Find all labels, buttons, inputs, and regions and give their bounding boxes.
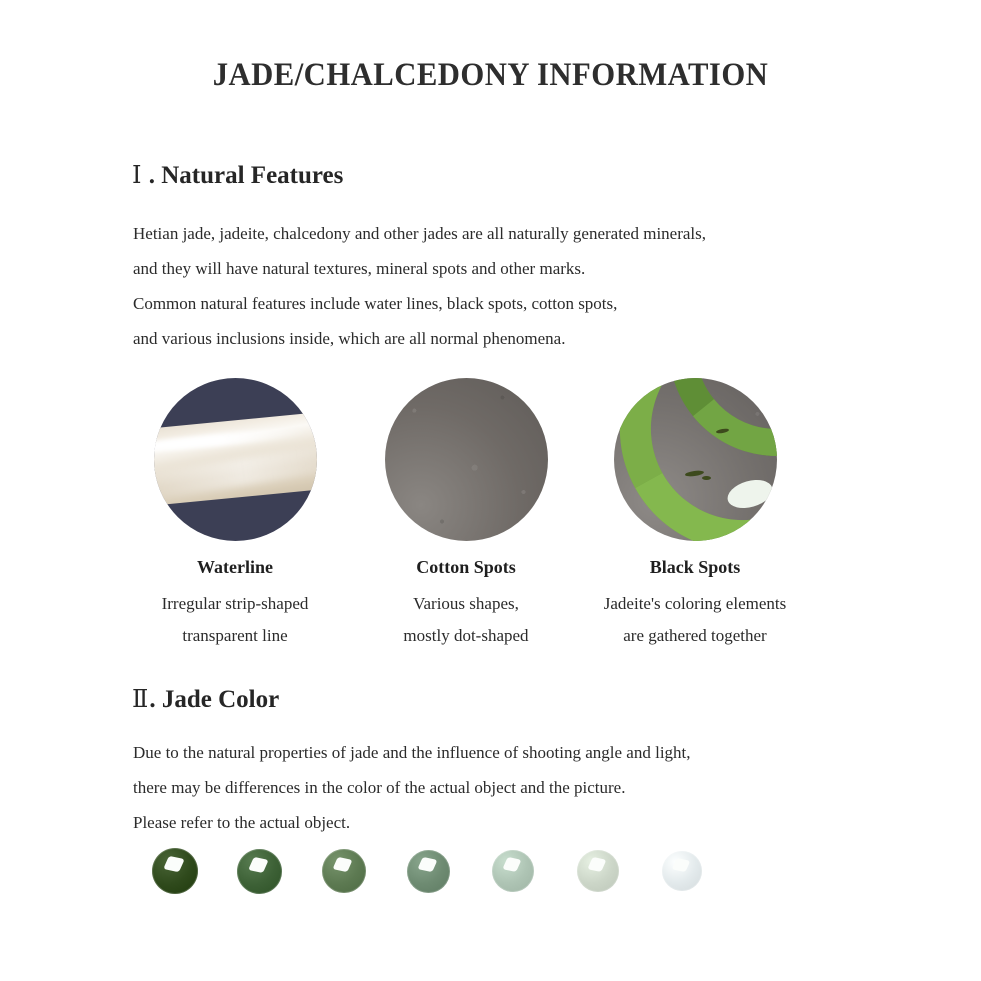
section-label-jade-color: Jade Color [162,686,279,713]
feature-description-line: are gathered together [580,620,810,652]
paragraph-line: Due to the natural properties of jade an… [133,735,691,770]
section-heading-natural-features: Ⅰ . Natural Features [132,161,343,190]
feature-description-line: transparent line [120,620,350,652]
paragraph-line: there may be differences in the color of… [133,770,691,805]
jade-color-bead [407,850,450,893]
feature-description-line: Various shapes, [351,588,581,620]
jade-color-bead [152,848,198,894]
section-numeral-1: Ⅰ [132,163,142,189]
section-numeral-2: Ⅱ [132,687,149,713]
jade-color-bead [322,849,366,893]
feature-title: Waterline [120,557,350,578]
jade-color-bead [662,851,702,891]
paragraph-line: Common natural features include water li… [133,286,706,321]
feature-card-waterline: Waterline Irregular strip-shaped transpa… [120,378,350,652]
feature-description-line: Irregular strip-shaped [120,588,350,620]
jade-color-bead [237,849,282,894]
section-separator-1: . [142,162,161,189]
feature-title: Cotton Spots [351,557,581,578]
jade-color-bead [492,850,534,892]
section-separator-2: . [149,686,162,713]
page-title: JADE/CHALCEDONY INFORMATION [34,57,946,94]
jade-information-page: JADE/CHALCEDONY INFORMATION Ⅰ . Natural … [0,0,981,981]
section-heading-jade-color: Ⅱ. Jade Color [132,685,279,714]
black-spot-mark [702,476,711,480]
waterline-photo [154,378,317,541]
jade-color-swatch-row [152,848,852,908]
cotton-highlight-line [385,378,548,541]
feature-description-line: Jadeite's coloring elements [580,588,810,620]
cotton-spots-photo [385,378,548,541]
paragraph-line: and they will have natural textures, min… [133,251,706,286]
paragraph-jade-color: Due to the natural properties of jade an… [133,735,691,840]
black-spots-photo [614,378,777,541]
paragraph-line: Hetian jade, jadeite, chalcedony and oth… [133,216,706,251]
paragraph-line: and various inclusions inside, which are… [133,321,706,356]
feature-description: Irregular strip-shaped transparent line [120,588,350,652]
paragraph-natural-features: Hetian jade, jadeite, chalcedony and oth… [133,216,706,356]
feature-card-cotton-spots: Cotton Spots Various shapes, mostly dot-… [351,378,581,652]
feature-description-line: mostly dot-shaped [351,620,581,652]
feature-title: Black Spots [580,557,810,578]
feature-description: Various shapes, mostly dot-shaped [351,588,581,652]
jade-color-bead [577,850,619,892]
feature-card-black-spots: Black Spots Jadeite's coloring elements … [580,378,810,652]
paragraph-line: Please refer to the actual object. [133,805,691,840]
section-label-natural-features: Natural Features [161,162,343,189]
feature-description: Jadeite's coloring elements are gathered… [580,588,810,652]
feature-gallery: Waterline Irregular strip-shaped transpa… [0,378,981,663]
